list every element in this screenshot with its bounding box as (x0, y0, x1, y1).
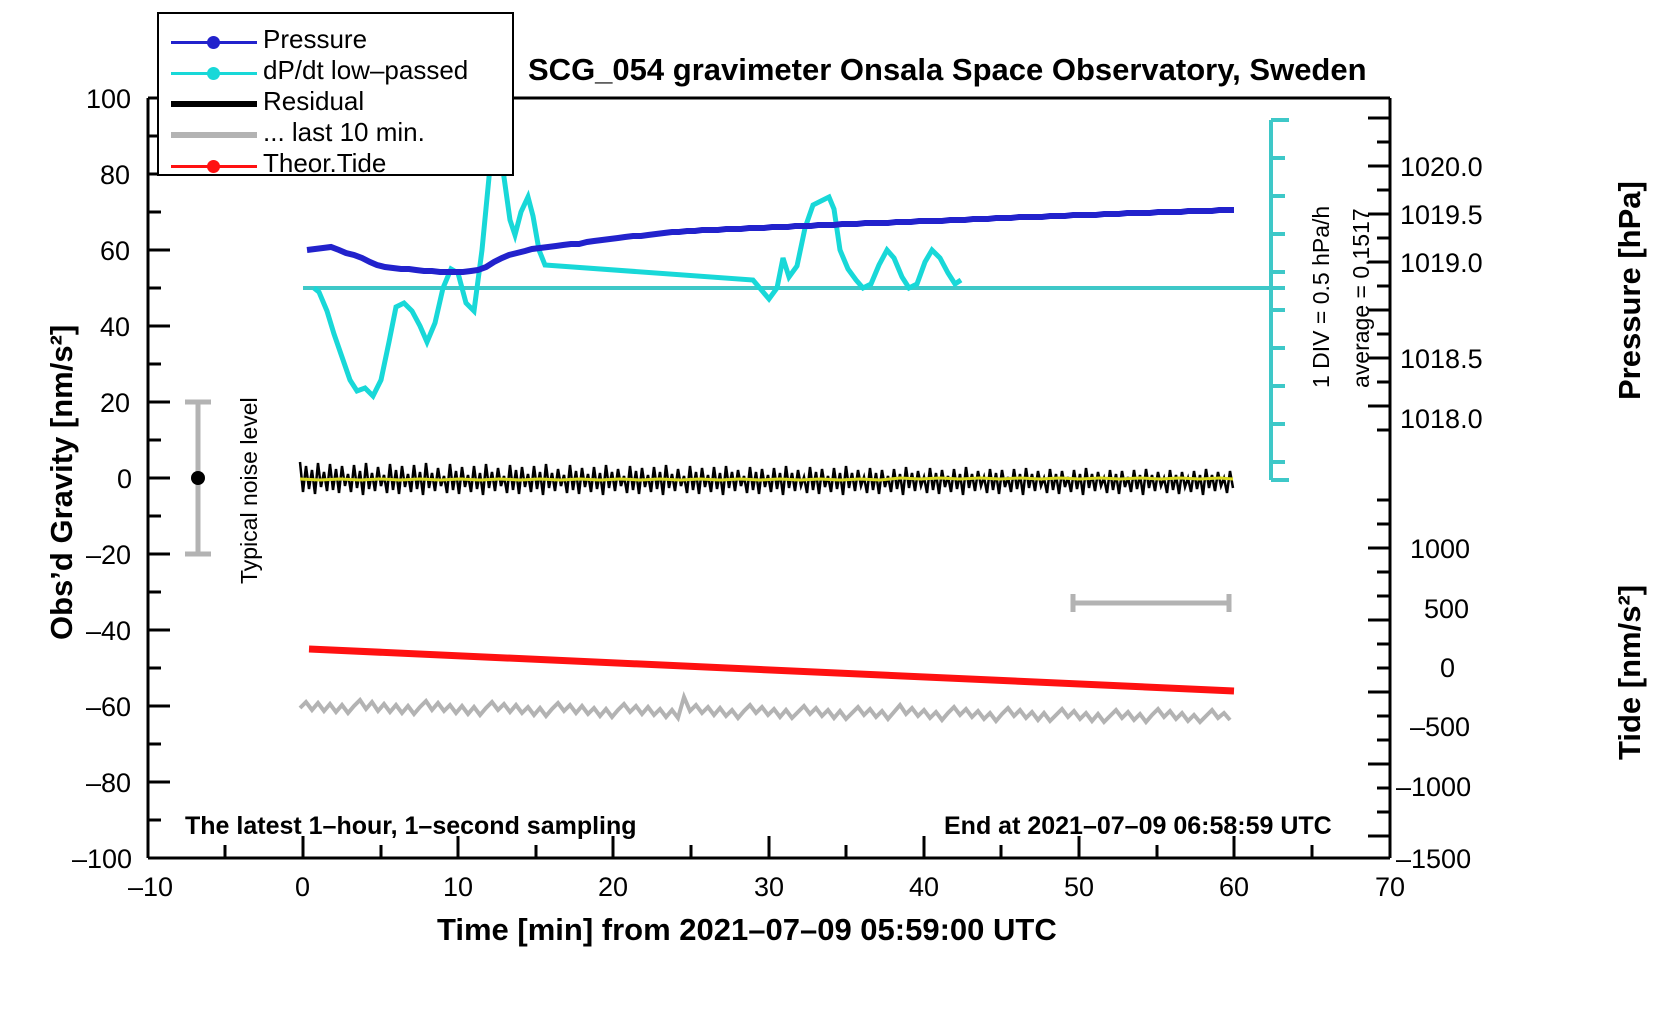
series-last10min-trace (300, 697, 1230, 722)
legend-label-last10min: ... last 10 min. (263, 117, 425, 147)
y-left-tick-80: 80 (100, 160, 130, 191)
legend-dot-dpdt (207, 67, 220, 80)
y-tide-tick-m1000: –1000 (1396, 772, 1471, 803)
x-tick-40: 40 (909, 872, 939, 903)
y-left-tick-40: 40 (100, 312, 130, 343)
footer-right-note: End at 2021–07–09 06:58:59 UTC (944, 812, 1332, 841)
noise-level-dot (191, 471, 205, 485)
legend-item-theortide[interactable]: Theor.Tide (159, 152, 512, 182)
y-left-tick-m80: –80 (86, 768, 131, 799)
x-tick-30: 30 (754, 872, 784, 903)
legend-item-residual[interactable]: Residual (159, 90, 512, 120)
x-axis-title: Time [min] from 2021–07–09 05:59:00 UTC (437, 912, 1057, 948)
y-axis-tide-ticks (1368, 500, 1390, 836)
legend-label-theortide: Theor.Tide (263, 148, 386, 178)
y-left-tick-m100: –100 (72, 844, 132, 875)
y-tide-tick-0: 0 (1440, 653, 1455, 684)
footer-left-note: The latest 1–hour, 1–second sampling (185, 812, 637, 841)
legend-line-residual (171, 101, 257, 107)
y-axis-tide-title: Tide [nm/s²] (1612, 585, 1648, 760)
page-title: SCG_054 gravimeter Onsala Space Observat… (528, 52, 1367, 88)
legend-item-dpdt[interactable]: dP/dt low–passed (159, 59, 512, 89)
y-left-tick-20: 20 (100, 388, 130, 419)
scale-div-label: 1 DIV = 0.5 hPa/h (1308, 206, 1335, 388)
legend-dot-pressure (207, 36, 220, 49)
y-pressure-tick-1019: 1019.0 (1400, 248, 1483, 279)
x-tick-60: 60 (1219, 872, 1249, 903)
legend-dot-theortide (207, 160, 220, 173)
x-tick-0: 0 (295, 872, 310, 903)
y-left-tick-m60: –60 (86, 692, 131, 723)
y-tide-tick-500: 500 (1424, 594, 1469, 625)
y-left-tick-100: 100 (86, 84, 131, 115)
legend-label-dpdt: dP/dt low–passed (263, 55, 468, 85)
average-label: average = 0.1517 (1348, 208, 1375, 388)
y-left-tick-0: 0 (117, 464, 132, 495)
x-tick-50: 50 (1064, 872, 1094, 903)
noise-level-label: Typical noise level (236, 397, 263, 584)
x-tick-m10: –10 (128, 872, 173, 903)
chart-root: Pressure dP/dt low–passed Residual ... l… (0, 0, 1660, 1020)
y-axis-left-title: Obs’d Gravity [nm/s²] (44, 325, 80, 640)
legend-label-residual: Residual (263, 86, 364, 116)
y-axis-pressure-title: Pressure [hPa] (1612, 181, 1648, 400)
legend-item-last10min[interactable]: ... last 10 min. (159, 121, 512, 151)
legend-label-pressure: Pressure (263, 24, 367, 54)
series-pressure-curve (307, 210, 1234, 272)
y-left-tick-m40: –40 (86, 616, 131, 647)
y-pressure-tick-10195: 1019.5 (1400, 200, 1483, 231)
series-theor-tide (309, 649, 1234, 691)
x-tick-10: 10 (443, 872, 473, 903)
y-left-tick-60: 60 (100, 236, 130, 267)
dpdt-scale-bar (1271, 120, 1289, 480)
legend-line-last10min (171, 132, 257, 138)
y-pressure-tick-1020: 1020.0 (1400, 152, 1483, 183)
y-tide-tick-1000: 1000 (1410, 534, 1470, 565)
legend-item-pressure[interactable]: Pressure (159, 28, 512, 58)
y-axis-left-ticks (148, 98, 170, 858)
y-tide-tick-m1500: –1500 (1396, 844, 1471, 875)
y-pressure-tick-10185: 1018.5 (1400, 344, 1483, 375)
last10min-marker-bar (1073, 594, 1229, 612)
y-pressure-tick-1018: 1018.0 (1400, 404, 1483, 435)
y-left-tick-m20: –20 (86, 540, 131, 571)
x-tick-70: 70 (1375, 872, 1405, 903)
legend: Pressure dP/dt low–passed Residual ... l… (157, 12, 514, 176)
y-tide-tick-m500: –500 (1410, 712, 1470, 743)
x-tick-20: 20 (598, 872, 628, 903)
